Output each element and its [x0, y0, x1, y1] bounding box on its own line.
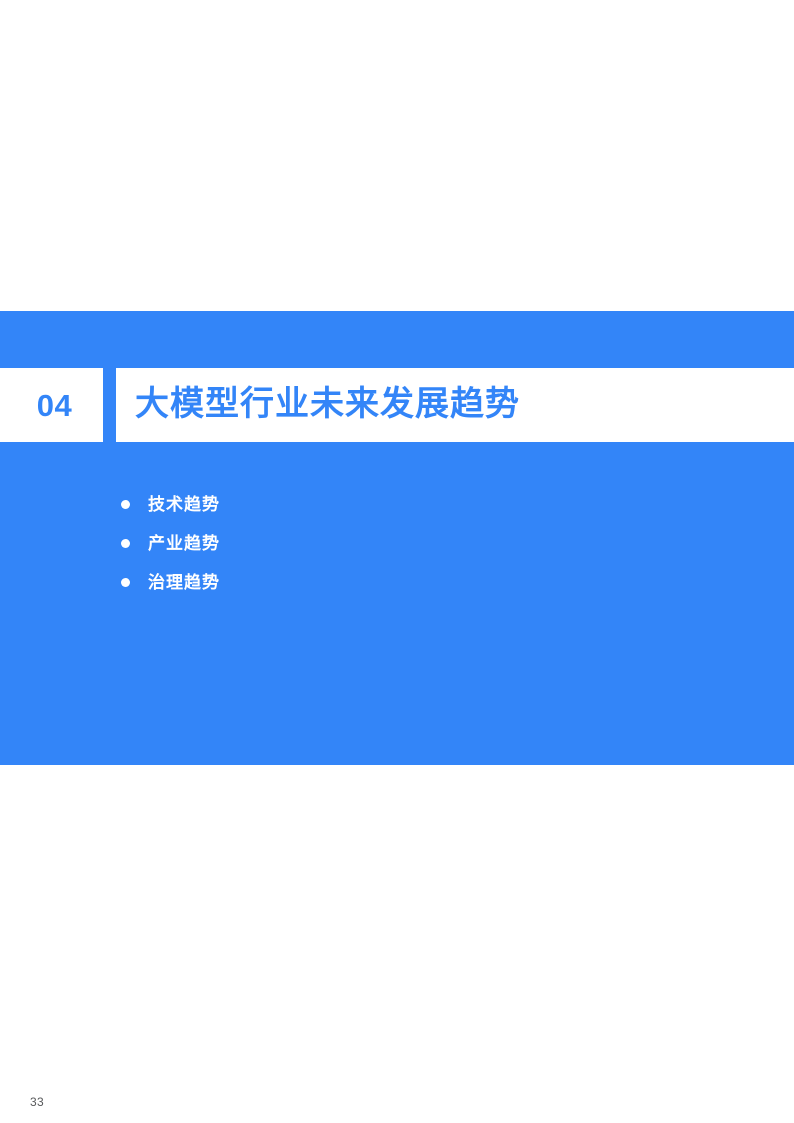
bullet-dot-icon	[121, 578, 130, 587]
list-item: 技术趋势	[118, 485, 618, 524]
chip-divider	[103, 368, 116, 442]
list-item: 治理趋势	[118, 563, 618, 602]
bullet-label: 技术趋势	[148, 496, 220, 513]
list-item: 产业趋势	[118, 524, 618, 563]
page-number: 33	[30, 1096, 44, 1108]
section-header-row: 04 大模型行业未来发展趋势	[0, 368, 794, 442]
section-number: 04	[37, 390, 72, 421]
section-title: 大模型行业未来发展趋势	[135, 386, 520, 423]
bullet-label: 产业趋势	[148, 535, 220, 552]
section-number-chip: 04	[0, 368, 103, 442]
section-bullet-list: 技术趋势 产业趋势 治理趋势	[118, 485, 618, 602]
bullet-dot-icon	[121, 500, 130, 509]
bullet-label: 治理趋势	[148, 574, 220, 591]
slide-page: 04 大模型行业未来发展趋势 技术趋势 产业趋势 治理趋势 33	[0, 0, 794, 1123]
section-divider-block: 04 大模型行业未来发展趋势 技术趋势 产业趋势 治理趋势	[0, 311, 794, 765]
bullet-dot-icon	[121, 539, 130, 548]
section-title-plate: 大模型行业未来发展趋势	[116, 368, 794, 442]
